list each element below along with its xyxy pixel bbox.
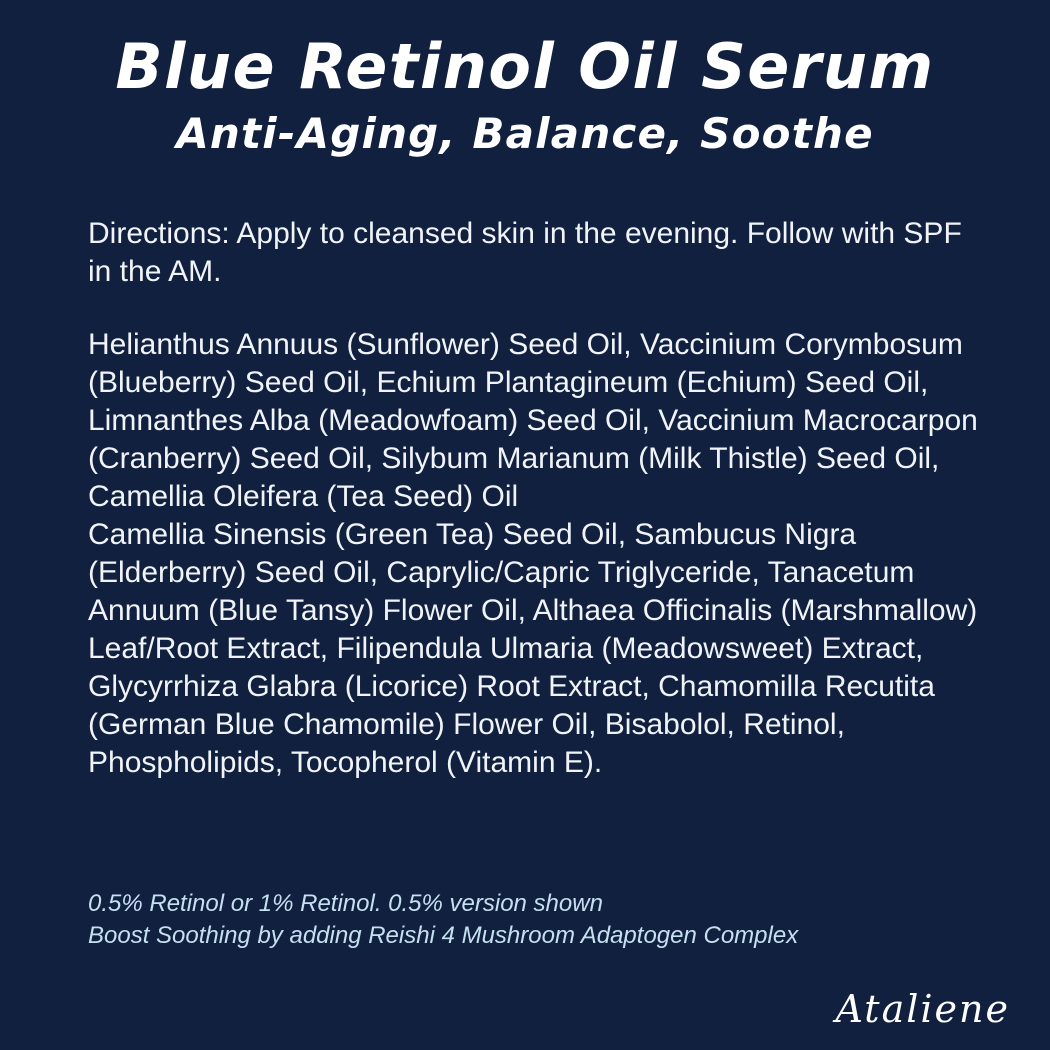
footnote-retinol-strength: 0.5% Retinol or 1% Retinol. 0.5% version… <box>88 888 988 920</box>
ingredients-segment-2: Camellia Sinensis (Green Tea) Seed Oil, … <box>88 518 977 779</box>
ingredients-segment-1: Helianthus Annuus (Sunflower) Seed Oil, … <box>88 326 988 516</box>
product-subtitle: Anti-Aging, Balance, Soothe <box>0 111 1050 157</box>
body-content: Directions: Apply to cleansed skin in th… <box>88 215 988 782</box>
product-title: Blue Retinol Oil Serum <box>0 34 1050 99</box>
product-label-card: Blue Retinol Oil Serum Anti-Aging, Balan… <box>0 0 1050 1050</box>
brand-signature: Ataliene <box>836 990 1010 1028</box>
header: Blue Retinol Oil Serum Anti-Aging, Balan… <box>0 0 1050 157</box>
ingredients-list: Helianthus Annuus (Sunflower) Seed Oil, … <box>88 326 988 782</box>
directions-text: Directions: Apply to cleansed skin in th… <box>88 215 988 291</box>
footnote-boost-option: Boost Soothing by adding Reishi 4 Mushro… <box>88 920 988 952</box>
footnotes: 0.5% Retinol or 1% Retinol. 0.5% version… <box>88 888 988 952</box>
